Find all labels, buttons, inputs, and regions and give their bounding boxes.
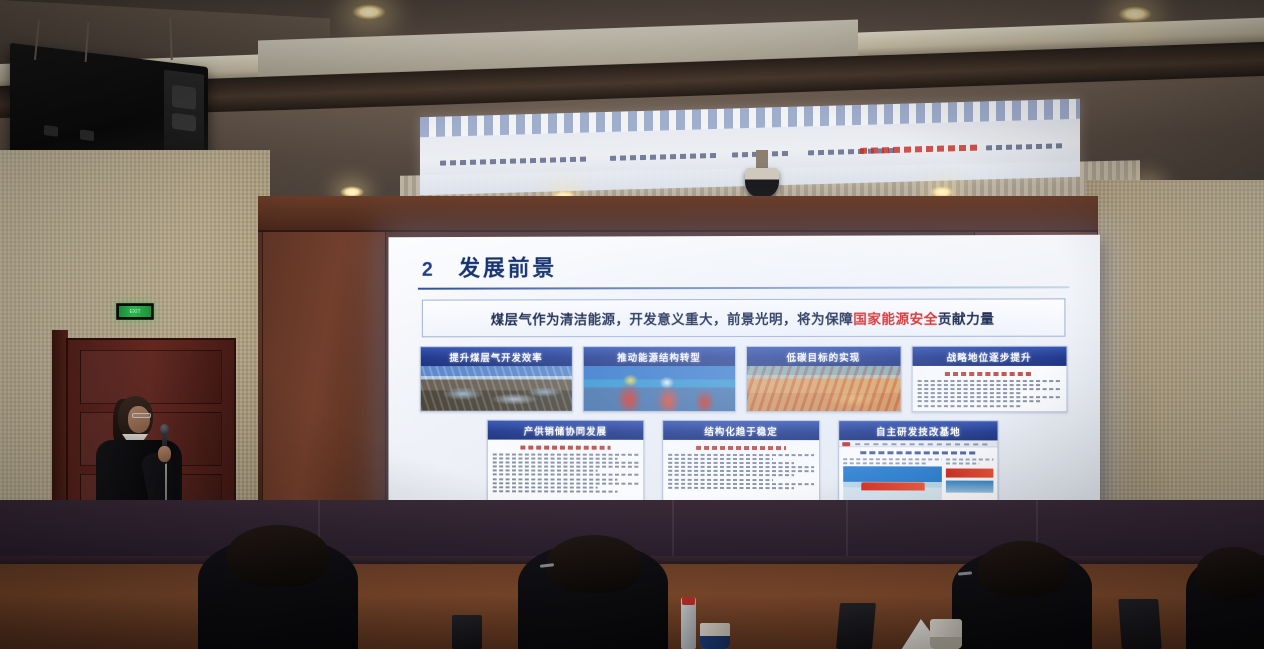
card-title: 低碳目标的实现 bbox=[747, 347, 900, 366]
reflection-highlight-text bbox=[860, 145, 978, 154]
webpage-text-line bbox=[946, 458, 993, 460]
document-line bbox=[493, 461, 638, 463]
webpage-photo bbox=[844, 466, 943, 500]
webpage-text-line bbox=[844, 458, 943, 460]
site-logo-icon bbox=[843, 442, 851, 446]
document-line bbox=[668, 487, 794, 489]
card-supply-chain-development[interactable]: 产供销储协同发展 bbox=[487, 420, 644, 504]
dome-camera-icon bbox=[745, 168, 779, 198]
presentation-slide: 2 发展前景 煤层气作为清洁能源，开发意义重大，前景光明，将为保障国家能源安全贡… bbox=[388, 235, 1100, 516]
subtitle-text-pre: 煤层气作为清洁能源，开发意义重大，前景光明，将为保障 bbox=[491, 312, 853, 327]
conference-room-scene: EXIT 2 发展前景 煤层气作为清洁能源，开发意义重大，前景光明，将为保障国家… bbox=[0, 0, 1264, 649]
laptop-lid[interactable] bbox=[452, 615, 482, 649]
card-body bbox=[421, 366, 571, 411]
document-line bbox=[668, 474, 794, 476]
card-structure-stabilizing[interactable]: 结构化趋于稳定 bbox=[662, 420, 821, 504]
speaker-grille bbox=[44, 125, 58, 137]
slide-header: 2 发展前景 bbox=[408, 247, 1080, 283]
reflection-text bbox=[986, 143, 1064, 150]
projection-screen[interactable]: 2 发展前景 煤层气作为清洁能源，开发意义重大，前景光明，将为保障国家能源安全贡… bbox=[388, 235, 1100, 516]
card-title: 战略地位逐步提升 bbox=[912, 347, 1066, 366]
document-line bbox=[668, 478, 773, 480]
document-line bbox=[493, 457, 618, 459]
card-body bbox=[912, 366, 1066, 411]
sidebar-red-banner bbox=[946, 468, 993, 477]
document-line bbox=[917, 405, 1021, 407]
document-line bbox=[668, 458, 773, 460]
document-line bbox=[917, 384, 1041, 386]
document-line bbox=[493, 465, 638, 467]
document-line bbox=[493, 478, 618, 480]
document-heading bbox=[696, 446, 787, 450]
card-title: 推动能源结构转型 bbox=[583, 347, 735, 366]
document-line bbox=[493, 453, 638, 455]
card-body bbox=[840, 440, 998, 504]
glasses-icon bbox=[132, 413, 151, 418]
slide-subtitle-box: 煤层气作为清洁能源，开发意义重大，前景光明，将为保障国家能源安全贡献力量 bbox=[422, 298, 1066, 337]
document-line bbox=[668, 462, 794, 464]
document-line bbox=[493, 486, 597, 488]
document-heading bbox=[944, 372, 1033, 376]
audience-head bbox=[546, 535, 642, 593]
ceiling-downlight bbox=[352, 4, 386, 20]
wood-top-beam bbox=[258, 196, 1098, 232]
webpage-main-column bbox=[844, 458, 943, 500]
document-line bbox=[493, 474, 638, 476]
bottle-cap bbox=[682, 597, 695, 605]
document-line bbox=[917, 380, 1061, 382]
subtitle-text-post: 贡献力量 bbox=[938, 312, 995, 327]
webpage-header-bar bbox=[840, 440, 998, 447]
panel-seam bbox=[846, 500, 848, 560]
webpage-body bbox=[840, 458, 998, 501]
document-line bbox=[917, 396, 1061, 398]
audience-head bbox=[1196, 547, 1264, 599]
camera-stem bbox=[756, 150, 768, 170]
emergency-exit-sign: EXIT bbox=[116, 303, 154, 320]
webpage-text-line bbox=[946, 462, 979, 464]
document-text-block bbox=[663, 440, 820, 503]
webpage-sidebar bbox=[946, 458, 993, 500]
cup-band bbox=[930, 637, 962, 649]
gasfield-photo bbox=[421, 366, 571, 411]
document-text-block bbox=[488, 440, 643, 503]
document-line bbox=[493, 490, 618, 492]
speaker-grille bbox=[80, 129, 94, 141]
document-line bbox=[668, 483, 815, 485]
audience-head bbox=[978, 541, 1068, 597]
document-line bbox=[917, 401, 1041, 403]
card-title: 结构化趋于稳定 bbox=[663, 421, 820, 440]
document-line bbox=[668, 453, 815, 455]
card-low-carbon-goal[interactable]: 低碳目标的实现 bbox=[746, 346, 901, 412]
card-body bbox=[583, 366, 735, 411]
subtitle-highlight: 国家能源安全 bbox=[853, 312, 938, 327]
exit-sign-label: EXIT bbox=[119, 306, 151, 317]
card-improve-efficiency[interactable]: 提升煤层气开发效率 bbox=[420, 346, 572, 412]
presenter-face bbox=[128, 406, 150, 433]
cards-row-2: 产供销储协同发展 bbox=[420, 420, 1068, 505]
webpage-screenshot bbox=[840, 440, 998, 504]
card-independent-rnd-base[interactable]: 自主研发技改基地 bbox=[839, 420, 999, 505]
reflection-text bbox=[610, 153, 720, 161]
ceiling-downlight bbox=[1118, 6, 1152, 22]
card-title: 提升煤层气开发效率 bbox=[421, 347, 571, 366]
card-title: 自主研发技改基地 bbox=[840, 421, 998, 440]
card-title: 产供销储协同发展 bbox=[488, 421, 643, 440]
speaker-port bbox=[172, 85, 196, 110]
document-line bbox=[917, 392, 1021, 394]
laptop-lid[interactable] bbox=[1118, 599, 1161, 649]
workers-photo bbox=[583, 366, 735, 411]
microphone-head bbox=[160, 424, 169, 434]
card-energy-transition[interactable]: 推动能源结构转型 bbox=[582, 346, 736, 412]
document-line bbox=[668, 470, 815, 472]
audience-head bbox=[226, 525, 330, 587]
document-line bbox=[917, 388, 1061, 390]
webpage-text-line bbox=[844, 462, 927, 464]
terrain-photo bbox=[747, 366, 900, 411]
document-line bbox=[493, 482, 638, 484]
laptop-lid[interactable] bbox=[836, 603, 876, 649]
webpage-headline bbox=[860, 451, 977, 454]
webpage-nav-links bbox=[856, 443, 992, 445]
document-line bbox=[493, 470, 597, 472]
slide-number: 2 bbox=[422, 259, 433, 282]
cards-row-1: 提升煤层气开发效率 推动能源结构转型 低碳目标的实现 bbox=[420, 346, 1068, 413]
cup-band bbox=[700, 636, 730, 649]
document-line bbox=[668, 466, 815, 468]
document-text-block bbox=[912, 366, 1066, 411]
reflection-text bbox=[440, 156, 590, 165]
card-body bbox=[488, 440, 643, 503]
speaker-port bbox=[172, 113, 196, 132]
panel-seam bbox=[672, 500, 674, 560]
sidebar-thumbnail bbox=[946, 481, 993, 493]
document-heading bbox=[520, 446, 610, 450]
card-body bbox=[747, 366, 900, 411]
title-divider bbox=[418, 286, 1070, 289]
slide-title: 发展前景 bbox=[458, 251, 557, 283]
card-strategic-position[interactable]: 战略地位逐步提升 bbox=[911, 346, 1067, 413]
presenter-hand bbox=[158, 446, 171, 462]
card-body bbox=[663, 440, 820, 503]
